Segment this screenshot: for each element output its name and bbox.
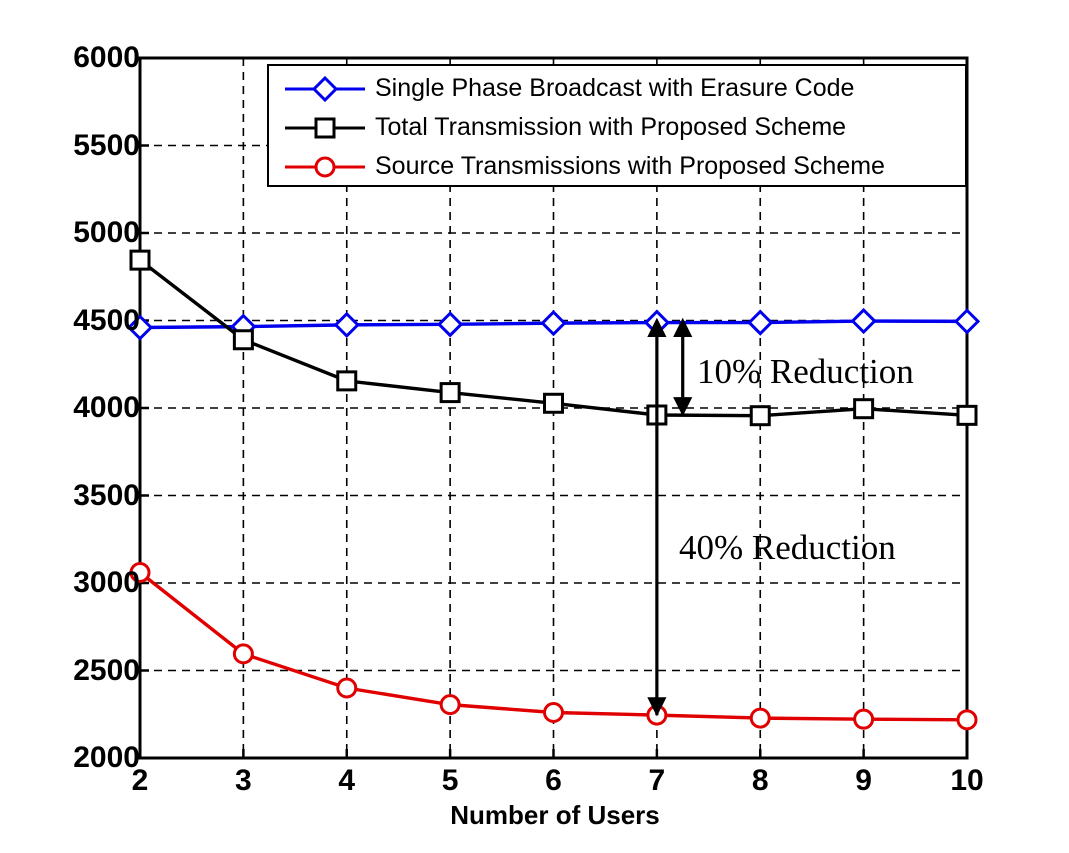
- data-point-marker: [234, 645, 252, 663]
- y-tick-label: 6000: [40, 43, 140, 73]
- chart-figure: 200025003000350040004500500055006000 234…: [0, 0, 1069, 853]
- x-tick-label: 2: [100, 766, 180, 796]
- legend-item-1[interactable]: Total Transmission with Proposed Scheme: [269, 108, 965, 147]
- annotation-40-percent-reduction: 40% Reduction: [679, 528, 896, 568]
- x-tick-label: 5: [410, 766, 490, 796]
- x-tick-label: 10: [927, 766, 1007, 796]
- x-tick-label: 6: [514, 766, 594, 796]
- data-point-marker: [314, 78, 336, 100]
- data-point-marker: [751, 407, 769, 425]
- annotation-10-percent-reduction: 10% Reduction: [697, 352, 914, 392]
- square-marker-icon: [312, 115, 338, 141]
- y-tick-label: 5500: [40, 131, 140, 161]
- data-point-marker: [956, 310, 978, 332]
- data-point-marker: [439, 313, 461, 335]
- legend-item-0[interactable]: Single Phase Broadcast with Erasure Code: [269, 69, 965, 108]
- data-point-marker: [316, 158, 334, 176]
- legend-label-1: Total Transmission with Proposed Scheme: [375, 115, 846, 140]
- y-axis-tick-labels: 200025003000350040004500500055006000: [0, 0, 140, 853]
- data-point-marker: [958, 711, 976, 729]
- y-tick-label: 3000: [40, 568, 140, 598]
- x-tick-label: 8: [720, 766, 800, 796]
- legend-item-2[interactable]: Source Transmissions with Proposed Schem…: [269, 147, 965, 186]
- legend-label-0: Single Phase Broadcast with Erasure Code: [375, 76, 854, 101]
- data-point-marker: [441, 384, 459, 402]
- data-point-marker: [338, 372, 356, 390]
- data-point-marker: [336, 314, 358, 336]
- y-tick-label: 5000: [40, 218, 140, 248]
- y-tick-label: 4000: [40, 393, 140, 423]
- y-tick-label: 2500: [40, 656, 140, 686]
- x-axis-label: Number of Users: [140, 800, 970, 831]
- legend-label-2: Source Transmissions with Proposed Schem…: [375, 154, 885, 179]
- data-point-marker: [316, 119, 334, 137]
- data-point-marker: [749, 312, 771, 334]
- data-point-marker: [751, 709, 769, 727]
- legend-sample-square-icon: [285, 117, 365, 139]
- data-point-marker: [338, 679, 356, 697]
- circle-marker-icon: [312, 154, 338, 180]
- legend-sample-diamond-icon: [285, 78, 365, 100]
- x-tick-label: 9: [824, 766, 904, 796]
- x-tick-label: 3: [203, 766, 283, 796]
- x-tick-label: 4: [307, 766, 387, 796]
- y-tick-label: 3500: [40, 481, 140, 511]
- y-tick-label: 4500: [40, 306, 140, 336]
- data-point-marker: [855, 710, 873, 728]
- chart-legend: Single Phase Broadcast with Erasure Code…: [267, 64, 967, 187]
- data-point-marker: [855, 400, 873, 418]
- diamond-marker-icon: [312, 76, 338, 102]
- data-point-marker: [853, 310, 875, 332]
- data-point-marker: [545, 394, 563, 412]
- data-point-marker: [545, 704, 563, 722]
- data-point-marker: [543, 312, 565, 334]
- data-point-marker: [234, 331, 252, 349]
- x-tick-label: 7: [617, 766, 697, 796]
- legend-sample-circle-icon: [285, 156, 365, 178]
- data-point-marker: [441, 696, 459, 714]
- data-point-marker: [958, 406, 976, 424]
